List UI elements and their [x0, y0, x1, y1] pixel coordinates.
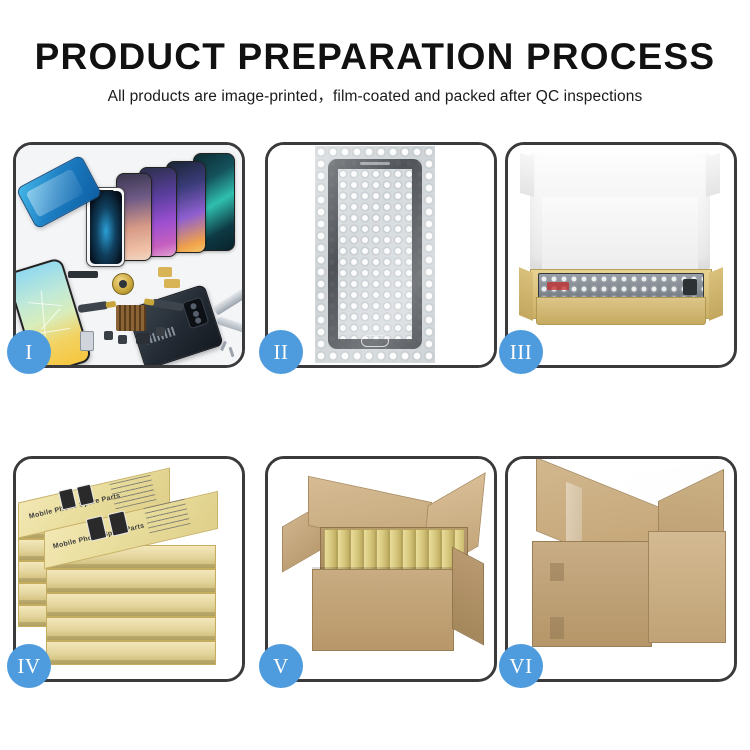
product-preparation-page: PRODUCT PREPARATION PROCESS All products… [0, 0, 750, 750]
button-part-1 [104, 331, 113, 340]
panel-badge-4: IV [7, 644, 51, 688]
panel-4-image: Mobile Phone Spare Parts Mobile Phone Sp… [16, 459, 242, 679]
carton-side-face [452, 546, 484, 645]
panel-badge-3: III [499, 330, 543, 374]
foam-padding [542, 197, 698, 269]
carton-seam-lower [550, 617, 564, 639]
gold-connector-1 [158, 267, 172, 277]
panel-5-image [268, 459, 494, 679]
process-panel-grid: I II III [0, 0, 750, 750]
panel-stacked-boxes[interactable]: Mobile Phone Spare Parts Mobile Phone Sp… [13, 456, 245, 682]
kraft-box-front [536, 297, 706, 325]
camera-module-part [136, 333, 150, 344]
carton-seam-upper [550, 563, 564, 581]
button-part-2 [118, 335, 127, 344]
chip-array-part [116, 305, 146, 331]
panel-badge-2: II [259, 330, 303, 374]
sealed-carton-side [648, 531, 726, 643]
panel-badge-1: I [7, 330, 51, 374]
carton-front-face [312, 569, 454, 651]
panel-badge-5: V [259, 644, 303, 688]
panel-bubble-wrapped-screen[interactable]: II [265, 142, 497, 368]
panel-sealed-carton[interactable]: VI [505, 456, 737, 682]
panel-parts-overview[interactable]: I [13, 142, 245, 368]
coil-part [112, 273, 134, 295]
battery-part [80, 331, 94, 351]
gold-connector-2 [164, 279, 180, 288]
panel-2-image [268, 145, 494, 365]
panel-3-image [508, 145, 734, 365]
panel-boxed-product[interactable]: III [505, 142, 737, 368]
panel-6-image [508, 459, 734, 679]
panel-badge-6: VI [499, 644, 543, 688]
plastic-sheen [315, 146, 435, 363]
panel-1-image [16, 145, 242, 365]
panel-open-carton[interactable]: V [265, 456, 497, 682]
button-part-3 [156, 327, 165, 336]
speaker-part [68, 271, 98, 278]
